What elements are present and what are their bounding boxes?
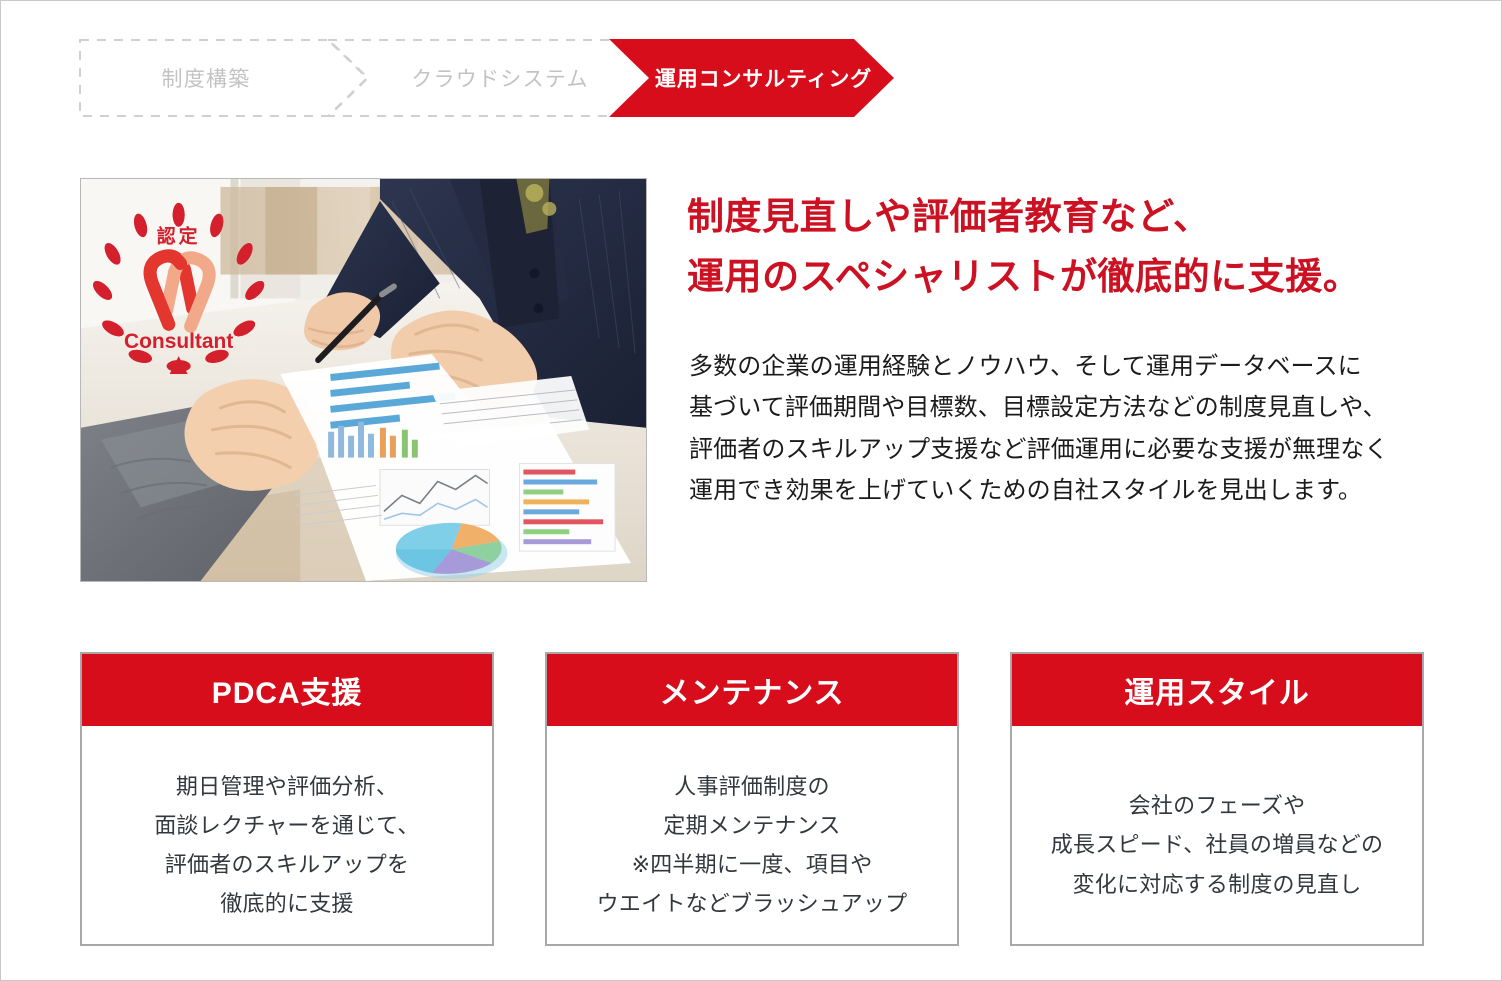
hero-headline: 制度見直しや評価者教育など、 運用のスペシャリストが徹底的に支援。: [687, 187, 1487, 307]
feature-card-operation-style[interactable]: 運用スタイル 会社のフェーズや 成長スピード、社員の増員などの 変化に対応する制…: [1010, 652, 1424, 946]
hero-body-copy: 多数の企業の運用経験とノウハウ、そして運用データベースに 基づいて評価期間や目標…: [689, 346, 1494, 511]
feature-card-maintenance[interactable]: メンテナンス 人事評価制度の 定期メンテナンス ※四半期に一度、項目や ウエイト…: [545, 652, 959, 946]
step-label: 制度構築: [161, 63, 250, 93]
card-text-line: 成長スピード、社員の増員などの: [1051, 825, 1383, 864]
body-line-3: 評価者のスキルアップ支援など評価運用に必要な支援が無理なく: [689, 429, 1494, 470]
body-line-4: 運用でき効果を上げていくための自社スタイルを見出します。: [689, 470, 1494, 511]
card-header: PDCA支援: [82, 654, 492, 726]
card-title: 運用スタイル: [1124, 668, 1309, 712]
step-progress-bar: 制度構築 クラウドシステム 運用コンサルティング: [79, 39, 889, 117]
headline-line-1: 制度見直しや評価者教育など、: [687, 187, 1487, 247]
card-text-line: 面談レクチャーを通じて、: [154, 806, 419, 845]
svg-text:Consultant: Consultant: [124, 330, 233, 353]
headline-line-2: 運用のスペシャリストが徹底的に支援。: [687, 247, 1487, 307]
card-text-line: 会社のフェーズや: [1129, 786, 1306, 825]
hero-photo: 認定 Consultant: [80, 178, 647, 582]
card-text-line: 変化に対応する制度の見直し: [1073, 865, 1362, 904]
step-item-cloud-system[interactable]: クラウドシステム: [327, 39, 657, 117]
feature-card-pdca[interactable]: PDCA支援 期日管理や評価分析、 面談レクチャーを通じて、 評価者のスキルアッ…: [80, 652, 494, 946]
card-text-line: 評価者のスキルアップを: [165, 845, 409, 884]
step-item-seido-kouchiku[interactable]: 制度構築: [79, 39, 369, 117]
consultation-scene-illustration: 認定 Consultant: [81, 179, 646, 581]
body-line-2: 基づいて評価期間や目標数、目標設定方法などの制度見直しや、: [689, 387, 1494, 428]
step-item-unyou-consulting[interactable]: 運用コンサルティング: [609, 39, 894, 117]
card-text-line: 徹底的に支援: [220, 884, 353, 923]
body-line-1: 多数の企業の運用経験とノウハウ、そして運用データベースに: [689, 346, 1494, 387]
card-header: 運用スタイル: [1012, 654, 1422, 726]
card-body: 人事評価制度の 定期メンテナンス ※四半期に一度、項目や ウエイトなどブラッシュ…: [547, 726, 957, 944]
card-text-line: 人事評価制度の: [674, 767, 830, 806]
card-text-line: ※四半期に一度、項目や: [632, 845, 873, 884]
step-label: クラウドシステム: [411, 63, 588, 93]
card-text-line: 定期メンテナンス: [663, 806, 840, 845]
page-root: 制度構築 クラウドシステム 運用コンサルティング: [0, 0, 1502, 981]
card-header: メンテナンス: [547, 654, 957, 726]
svg-text:認定: 認定: [157, 225, 201, 248]
card-text-line: 期日管理や評価分析、: [176, 767, 398, 806]
card-text-line: ウエイトなどブラッシュアップ: [597, 884, 908, 923]
card-body: 期日管理や評価分析、 面談レクチャーを通じて、 評価者のスキルアップを 徹底的に…: [82, 726, 492, 944]
card-title: PDCA支援: [212, 668, 362, 712]
step-label: 運用コンサルティング: [655, 63, 872, 93]
card-title: メンテナンス: [660, 668, 845, 712]
card-body: 会社のフェーズや 成長スピード、社員の増員などの 変化に対応する制度の見直し: [1012, 726, 1422, 944]
